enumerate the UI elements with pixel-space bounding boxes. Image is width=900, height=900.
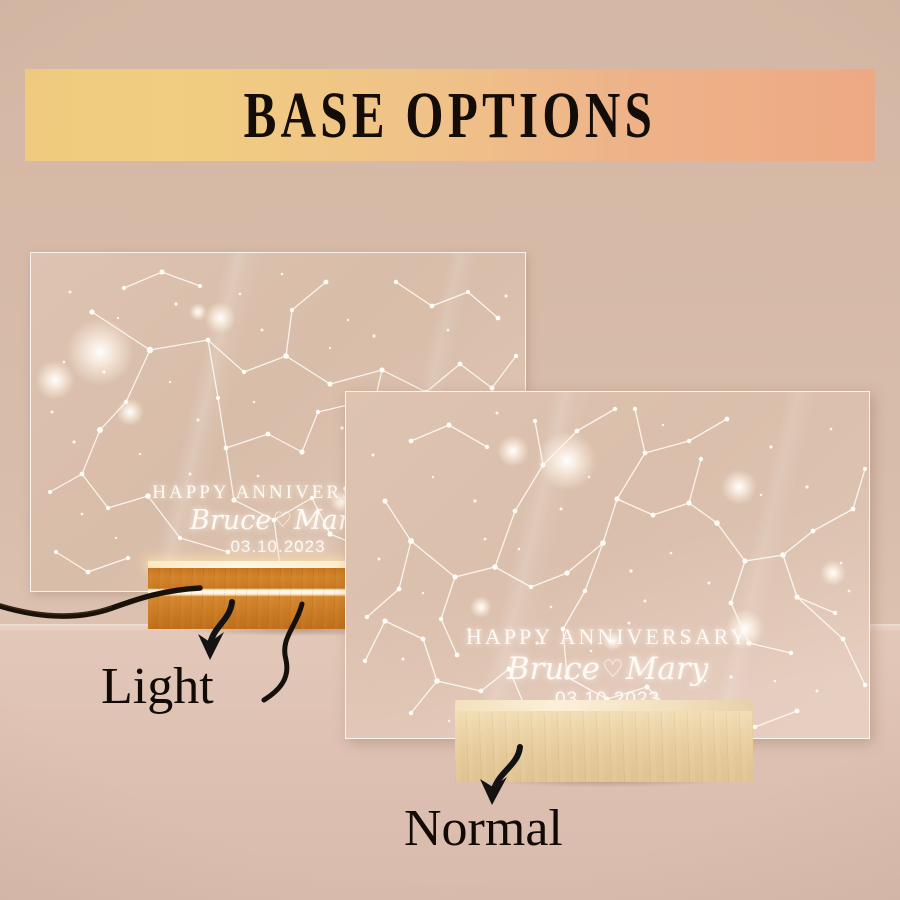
normal-base-label: Normal: [404, 803, 563, 855]
header-banner: BASE OPTIONS: [25, 69, 875, 161]
heart-icon: ♡: [273, 507, 292, 532]
front-engraving-names: Bruce♡Mary: [345, 651, 870, 687]
heart-icon: ♡: [602, 655, 624, 683]
page-title: BASE OPTIONS: [244, 82, 657, 148]
light-base-label: Light: [101, 661, 214, 713]
back-name-left: Bruce: [190, 505, 271, 536]
front-name-right: Mary: [626, 651, 709, 687]
front-panel-engraving: HAPPY ANNIVERSARY Bruce♡Mary 03.10.2023: [345, 624, 870, 711]
product-photo-canvas: BASE OPTIONS: [0, 0, 900, 900]
front-engraving-headline: HAPPY ANNIVERSARY: [345, 624, 870, 650]
normal-base-top-face: [455, 700, 753, 711]
front-name-left: Bruce: [507, 651, 600, 687]
